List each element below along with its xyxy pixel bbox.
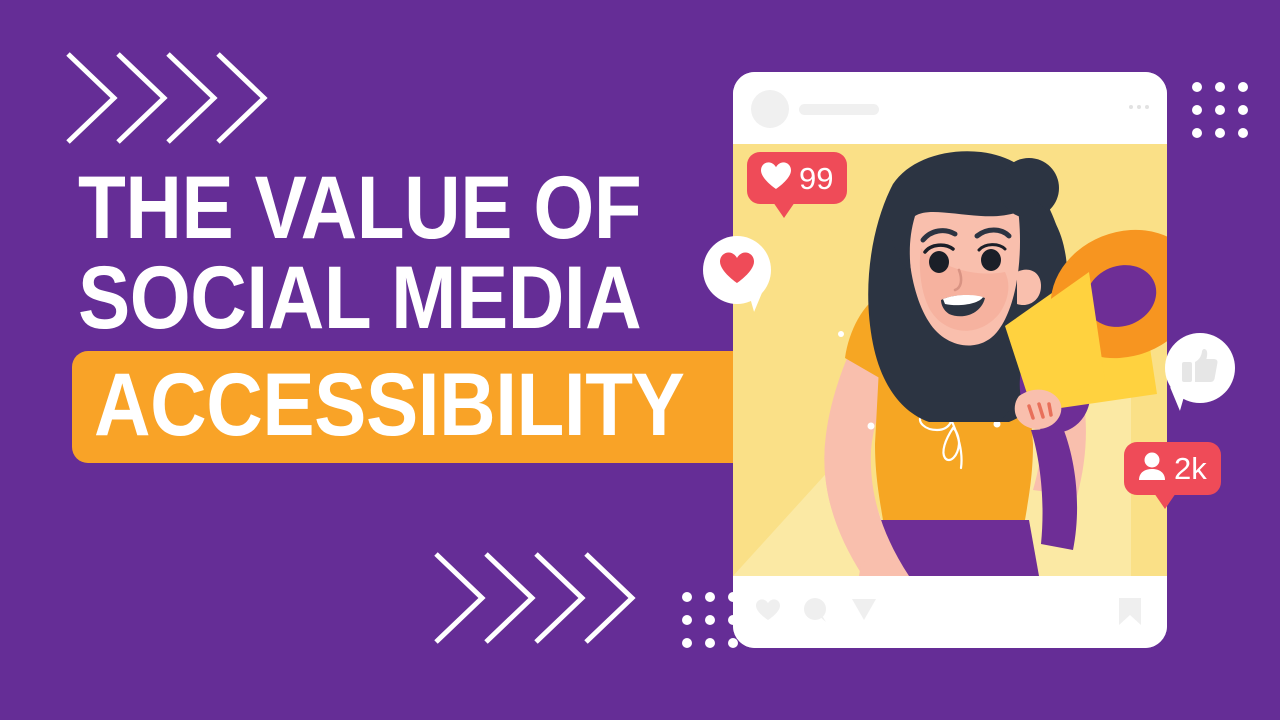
dot-grid-bottom-left-icon — [682, 592, 738, 648]
more-options-icon[interactable] — [1129, 105, 1149, 109]
user-icon — [1137, 451, 1167, 486]
reaction-bubble-thumbs-up — [1165, 333, 1235, 403]
reaction-bubble-heart — [703, 236, 771, 304]
headline-highlight-box: ACCESSIBILITY — [72, 351, 787, 463]
status-badge-followers: 2k — [1124, 442, 1221, 495]
post-card-media — [733, 144, 1167, 576]
chevron-arrows-top — [62, 48, 292, 148]
thumbs-up-icon — [1181, 348, 1219, 389]
post-card-footer — [733, 576, 1167, 648]
heart-icon — [719, 251, 755, 289]
bookmark-icon[interactable] — [1117, 596, 1143, 631]
badge-tail — [773, 202, 795, 218]
page-title: THE VALUE OF SOCIAL MEDIA ACCESSIBILITY — [78, 166, 698, 463]
likes-count: 99 — [799, 163, 833, 194]
poster-canvas: THE VALUE OF SOCIAL MEDIA ACCESSIBILITY — [0, 0, 1280, 720]
followers-count: 2k — [1174, 453, 1207, 484]
chevron-arrows-bottom — [430, 548, 660, 648]
heart-icon — [760, 161, 792, 195]
post-card-header — [733, 72, 1167, 144]
woman-with-megaphone-illustration — [733, 144, 1167, 576]
headline-line-3: ACCESSIBILITY — [94, 363, 684, 447]
dot-grid-top-right-icon — [1192, 82, 1248, 138]
avatar — [751, 90, 789, 128]
headline-line-1: THE VALUE OF — [78, 166, 624, 250]
username-placeholder — [799, 104, 879, 115]
like-icon[interactable] — [755, 598, 781, 627]
share-icon[interactable] — [851, 598, 877, 627]
badge-tail — [1154, 493, 1176, 509]
headline-line-2: SOCIAL MEDIA — [78, 256, 624, 340]
status-badge-likes: 99 — [747, 152, 847, 204]
bubble-tail — [1165, 387, 1186, 411]
comment-icon[interactable] — [803, 598, 829, 628]
